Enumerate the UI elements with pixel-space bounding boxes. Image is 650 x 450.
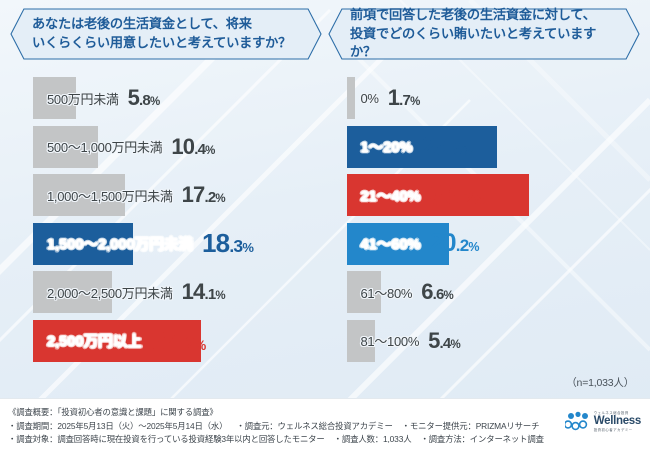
bar-row-text: 21～40% 36.2%	[361, 171, 485, 220]
bar-row-text: 2,000～2,500万円未満 14.1%	[47, 268, 225, 317]
bar-value-decimal: .2	[204, 189, 215, 206]
bar-value-integer: 6	[421, 279, 432, 304]
bar-category-label: 1,000～1,500万円未満	[47, 186, 173, 205]
footer-text-block: 《調査概要：「投資初心者の意識と課題」に関する調査》 ・調査期間：2025年5月…	[8, 406, 640, 447]
bar-value-label: 1.7%	[388, 85, 420, 111]
bar-value-integer: 36	[430, 179, 460, 210]
bar-value-integer: 20	[430, 229, 456, 257]
bar-value-integer: 5	[428, 328, 439, 353]
footer-survey-method: ・調査方法：インターネット調査	[420, 434, 543, 444]
footer-line-3: ・調査対象：調査回答時に現在投資を行っている投資経験3年以内と回答したモニター・…	[8, 433, 640, 447]
bar-row-highlighted: 2,500万円以上 34.2%	[33, 317, 325, 366]
bar-row: 2,000～2,500万円未満 14.1%	[33, 268, 325, 317]
bar-value-integer: 5	[128, 85, 139, 110]
percent-symbol: %	[462, 143, 473, 158]
bar-row-text: 1,000～1,500万円未満 17.2%	[47, 171, 225, 220]
percent-symbol: %	[150, 96, 159, 108]
bar-value-integer: 14	[182, 279, 205, 304]
bar-row-text: 500万円未満 5.8%	[47, 74, 159, 123]
bar-value-decimal: .2	[456, 236, 469, 255]
question-headers: あなたは老後の生活資金として、将来 いくらくらい用意したいと考えていますか？ 前…	[0, 8, 650, 60]
chart-left: 500万円未満 5.8% 500～1,000万円未満 10.4% 1,000～1…	[12, 74, 325, 392]
brand-tagline-bottom: 投資初心者アカデミー	[594, 429, 641, 432]
bar-value-decimal: .1	[204, 286, 215, 303]
percent-symbol: %	[242, 240, 253, 255]
bar-fill	[347, 77, 355, 119]
bar-category-label: 2,500万円以上	[47, 330, 142, 351]
bar-value-decimal: .2	[459, 187, 473, 208]
bar-value-label: 18.3%	[202, 228, 253, 259]
percent-symbol: %	[473, 192, 484, 207]
percent-symbol: %	[444, 290, 453, 302]
bar-category-label: 500～1,000万円未満	[47, 137, 162, 156]
bar-category-label: 41～60%	[361, 233, 421, 254]
bar-category-label: 500万円未満	[47, 89, 119, 108]
question-header-2: 前項で回答した老後の生活資金に対して、 投資でどのくらい賄いたいと考えていますか…	[328, 8, 640, 60]
bar-row-text: 1,500～2,000万円未満 18.3%	[47, 220, 253, 269]
bar-value-label: 20.2%	[430, 229, 479, 258]
brand-logo: ウェルネス総合投資 Wellness 投資初心者アカデミー	[565, 411, 641, 433]
chart-right: 0% 1.7% 1～20% 29.9% 21～40% 36.2%	[325, 74, 639, 392]
bar-row-text: 81～100% 5.4%	[361, 317, 460, 366]
bar-value-label: 6.6%	[421, 279, 453, 305]
bar-row-text: 41～60% 20.2%	[361, 220, 479, 269]
bar-value-decimal: .8	[139, 92, 150, 109]
bar-category-label: 61～80%	[361, 283, 413, 302]
bar-category-label: 81～100%	[361, 331, 420, 350]
footer-line-2: ・調査期間：2025年5月13日（火）～2025年5月14日（水）・調査元：ウェ…	[8, 420, 640, 434]
bar-value-integer: 29	[421, 131, 448, 161]
infographic-canvas: あなたは老後の生活資金として、将来 いくらくらい用意したいと考えていますか？ 前…	[0, 0, 650, 450]
bar-row-text: 500～1,000万円未満 10.4%	[47, 123, 215, 172]
bar-value-integer: 17	[182, 182, 205, 207]
bar-value-label: 14.1%	[182, 279, 225, 305]
bar-value-decimal: .9	[449, 139, 462, 159]
footer: 《調査概要：「投資初心者の意識と課題」に関する調査》 ・調査期間：2025年5月…	[0, 398, 650, 450]
bar-value-label: 17.2%	[182, 182, 225, 208]
bar-row: 500万円未満 5.8%	[33, 74, 325, 123]
bar-value-label: 10.4%	[171, 134, 214, 160]
footer-monitor-provider: ・モニター提供元：PRIZMAリサーチ	[402, 421, 540, 431]
bar-row: 1,000～1,500万円未満 17.2%	[33, 171, 325, 220]
bar-value-label: 29.9%	[421, 131, 472, 162]
footer-sample-count: ・調査人数：1,033人	[334, 434, 412, 444]
percent-symbol: %	[215, 290, 224, 302]
bar-value-label: 5.4%	[428, 328, 460, 354]
bar-value-decimal: .2	[180, 333, 194, 354]
people-group-icon	[565, 411, 591, 433]
bar-row-highlighted: 1,500～2,000万円未満 18.3%	[33, 220, 325, 269]
bar-row: 61～80% 6.6%	[347, 268, 639, 317]
bar-value-integer: 18	[202, 228, 229, 258]
bar-value-integer: 10	[171, 134, 194, 159]
bar-value-label: 34.2%	[151, 325, 206, 357]
question-header-1: あなたは老後の生活資金として、将来 いくらくらい用意したいと考えていますか？	[10, 8, 322, 60]
bar-value-decimal: .4	[440, 335, 451, 352]
bar-category-label: 21～40%	[361, 185, 421, 206]
bar-row-text: 1～20% 29.9%	[361, 123, 473, 172]
bar-row-text: 61～80% 6.6%	[361, 268, 453, 317]
question-header-2-text: 前項で回答した老後の生活資金に対して、 投資でどのくらい賄いたいと考えていますか…	[328, 6, 640, 62]
footer-line-1: 《調査概要：「投資初心者の意識と課題」に関する調査》	[8, 406, 640, 420]
percent-symbol: %	[194, 338, 205, 353]
brand-name: Wellness	[594, 416, 641, 428]
bar-row-highlighted: 41～60% 20.2%	[347, 220, 639, 269]
bar-value-label: 36.2%	[430, 179, 485, 211]
sample-size-note: （n=1,033人）	[566, 375, 634, 390]
bar-category-label: 1,500～2,000万円未満	[47, 233, 193, 254]
bar-row-text: 2,500万円以上 34.2%	[47, 317, 206, 366]
bar-category-label: 1～20%	[361, 136, 413, 157]
bar-category-label: 0%	[361, 91, 379, 106]
bar-row-highlighted: 1～20% 29.9%	[347, 123, 639, 172]
bar-row-highlighted: 21～40% 36.2%	[347, 171, 639, 220]
footer-survey-source: ・調査元：ウェルネス総合投資アカデミー	[236, 421, 392, 431]
bar-value-label: 5.8%	[128, 85, 160, 111]
bar-value-decimal: .6	[433, 286, 444, 303]
bar-row: 500～1,000万円未満 10.4%	[33, 123, 325, 172]
bar-value-decimal: .7	[399, 92, 410, 109]
bar-row: 0% 1.7%	[347, 74, 639, 123]
bar-value-decimal: .3	[229, 236, 242, 256]
percent-symbol: %	[450, 339, 459, 351]
footer-survey-period: ・調査期間：2025年5月13日（火）～2025年5月14日（水）	[8, 421, 227, 431]
chart-columns: 500万円未満 5.8% 500～1,000万円未満 10.4% 1,000～1…	[0, 74, 650, 392]
footer-survey-target: ・調査対象：調査回答時に現在投資を行っている投資経験3年以内と回答したモニター	[8, 434, 325, 444]
bar-category-label: 2,000～2,500万円未満	[47, 283, 173, 302]
bar-value-integer: 34	[151, 325, 181, 356]
bar-value-decimal: .4	[194, 141, 205, 158]
percent-symbol: %	[468, 240, 478, 254]
bar-row-text: 0% 1.7%	[361, 74, 420, 123]
question-header-1-text: あなたは老後の生活資金として、将来 いくらくらい用意したいと考えていますか？	[10, 15, 311, 52]
percent-symbol: %	[215, 193, 224, 205]
percent-symbol: %	[410, 96, 419, 108]
brand-logo-text: ウェルネス総合投資 Wellness 投資初心者アカデミー	[594, 412, 641, 432]
bar-value-integer: 1	[388, 85, 399, 110]
bar-row: 81～100% 5.4%	[347, 317, 639, 366]
percent-symbol: %	[205, 145, 214, 157]
